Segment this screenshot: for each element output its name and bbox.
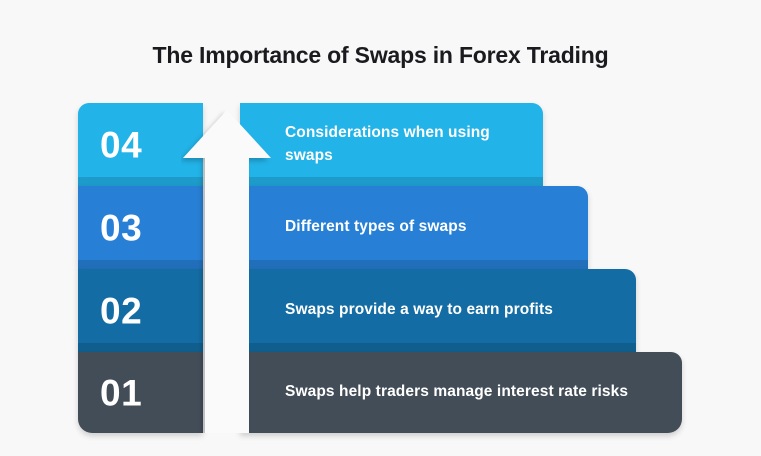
page-title: The Importance of Swaps in Forex Trading [0,42,761,69]
step-text-block-02[interactable]: Swaps provide a way to earn profits [240,269,636,352]
step-number-block-03[interactable]: 03 [78,186,203,269]
step-text-01: Swaps help traders manage interest rate … [240,381,642,403]
bevel-shade-02b [240,343,636,352]
step-text-03: Different types of swaps [240,216,481,238]
step-number-04: 04 [100,126,142,163]
step-number-01: 01 [100,374,142,411]
step-number-block-04[interactable]: 04 [78,103,203,186]
step-text-block-04[interactable]: Considerations when using swaps [240,103,543,186]
step-text-block-03[interactable]: Different types of swaps [240,186,588,269]
step-text-02: Swaps provide a way to earn profits [240,299,567,321]
bevel-shade-03b [240,260,588,269]
bevel-shade-02a [78,343,203,352]
bevel-shade-04a [78,177,203,186]
step-number-03: 03 [100,209,142,246]
step-text-04: Considerations when using swaps [240,122,543,167]
step-number-block-02[interactable]: 02 [78,269,203,352]
step-number-02: 02 [100,292,142,329]
bevel-shade-03a [78,260,203,269]
steps-chart: 04 Considerations when using swaps 03 Di… [78,103,688,433]
step-number-block-01[interactable]: 01 [78,352,203,433]
bevel-shade-04b [240,177,543,186]
step-text-block-01[interactable]: Swaps help traders manage interest rate … [240,352,682,433]
